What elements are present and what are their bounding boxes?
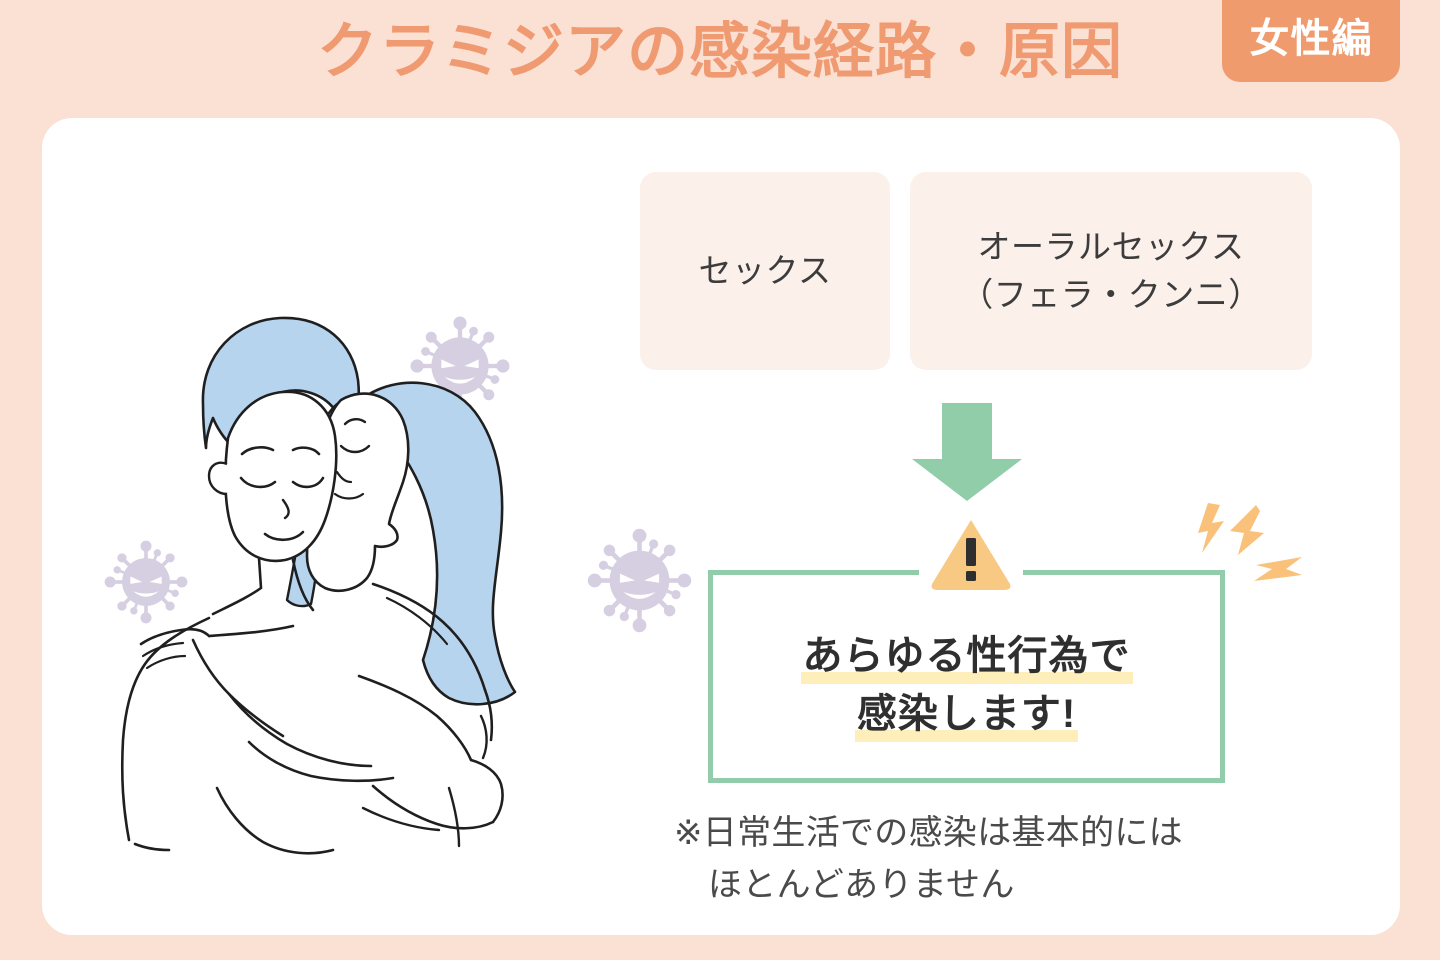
illustration-area (42, 118, 662, 935)
alert-message-line1: あらゆる性行為で (801, 630, 1133, 684)
route-box-sex[interactable]: セックス (640, 172, 890, 370)
status-badge: 女性編 (1222, 0, 1400, 82)
transmission-routes: セックス オーラルセックス （フェラ・クンニ） (640, 172, 1312, 370)
route-box-oral[interactable]: オーラルセックス （フェラ・クンニ） (910, 172, 1312, 370)
footnote-line1: ※日常生活での感染は基本的には (674, 814, 1183, 852)
content-card: セックス オーラルセックス （フェラ・クンニ） あらゆる性行為で 感染します! … (42, 118, 1400, 935)
down-arrow-icon (912, 403, 1022, 501)
footnote: ※日常生活での感染は基本的には ほとんどありません (674, 808, 1314, 911)
route-label-oral-line1: オーラルセックス (977, 228, 1244, 265)
status-badge-label: 女性編 (1250, 19, 1373, 63)
alert-message-line2: 感染します! (855, 688, 1078, 742)
route-label-oral-line2: （フェラ・クンニ） (960, 276, 1262, 313)
couple-illustration (97, 288, 547, 858)
virus-icon-middle (582, 523, 697, 638)
footnote-line2: ほとんどありません (674, 860, 1314, 912)
alert-message: あらゆる性行為で 感染します! (708, 596, 1225, 776)
route-label-sex: セックス (698, 247, 831, 295)
warning-triangle-icon (930, 518, 1012, 590)
lightning-bolts-icon (1194, 503, 1304, 587)
route-label-oral: オーラルセックス （フェラ・クンニ） (960, 223, 1262, 319)
